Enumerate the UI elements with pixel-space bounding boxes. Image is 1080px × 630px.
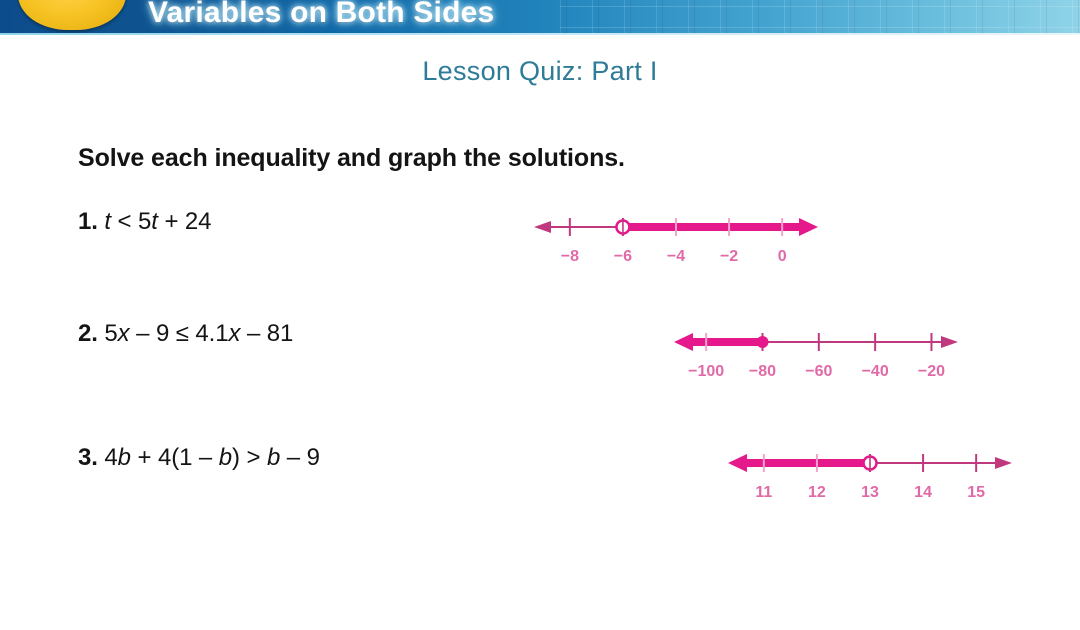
- math-text: – 81: [240, 320, 293, 347]
- math-variable: x: [118, 320, 130, 347]
- number-line-axis: [722, 446, 1018, 482]
- math-text: ) >: [232, 444, 267, 471]
- math-text: 5: [104, 320, 117, 347]
- math-variable: x: [228, 320, 240, 347]
- problem-number: 3.: [78, 444, 98, 471]
- math-variable: b: [118, 444, 131, 471]
- math-text: – 9 ≤ 4.1: [130, 320, 229, 347]
- math-variable: b: [267, 444, 280, 471]
- lesson-title: Variables on Both Sides: [148, 0, 494, 30]
- tick-label: 11: [755, 484, 772, 502]
- tick-label: −6: [614, 248, 632, 266]
- tick-label: −40: [862, 363, 889, 381]
- problem-expression: 5x – 9 ≤ 4.1x – 81: [104, 320, 293, 347]
- tick-label: −4: [667, 248, 685, 266]
- number-line-tick-labels: −100−80−60−40−20: [668, 363, 964, 385]
- math-variable: b: [219, 444, 232, 471]
- math-text: + 24: [158, 208, 212, 235]
- tick-label: 14: [914, 484, 932, 502]
- instruction-text: Solve each inequality and graph the solu…: [78, 144, 625, 173]
- problem-number: 2.: [78, 320, 98, 347]
- number-line-graph: −100−80−60−40−20: [668, 325, 964, 361]
- tick-label: 15: [967, 484, 985, 502]
- header-banner: 2-4 Variables on Both Sides: [0, 0, 1080, 34]
- tick-label: 0: [778, 248, 787, 266]
- problem-expression: t < 5t + 24: [104, 208, 211, 235]
- math-text: 4: [104, 444, 117, 471]
- math-variable: t: [104, 208, 111, 235]
- number-line-graph: −8−6−4−20: [528, 210, 824, 246]
- tick-label: −20: [918, 363, 945, 381]
- lesson-number-badge: 2-4: [18, 0, 126, 30]
- number-line-tick-labels: −8−6−4−20: [528, 248, 824, 270]
- math-text: < 5: [111, 208, 151, 235]
- tick-label: −80: [749, 363, 776, 381]
- problem-item: 2. 5x – 9 ≤ 4.1x – 81: [78, 320, 293, 348]
- math-text: + 4(1 –: [131, 444, 219, 471]
- quiz-subtitle: Lesson Quiz: Part I: [0, 56, 1080, 87]
- tick-label: −100: [688, 363, 724, 381]
- problem-item: 1. t < 5t + 24: [78, 208, 211, 236]
- number-line-tick-labels: 1112131415: [722, 484, 1018, 506]
- number-line-graph: 1112131415: [722, 446, 1018, 482]
- banner-underline: [0, 33, 1080, 35]
- problem-expression: 4b + 4(1 – b) > b – 9: [104, 444, 319, 471]
- problem-number: 1.: [78, 208, 98, 235]
- tick-label: −8: [561, 248, 579, 266]
- banner-square-pattern: [560, 0, 1080, 34]
- tick-label: −60: [805, 363, 832, 381]
- number-line-axis: [528, 210, 824, 246]
- tick-label: 12: [808, 484, 826, 502]
- math-text: – 9: [280, 444, 320, 471]
- tick-label: 13: [861, 484, 879, 502]
- tick-label: −2: [720, 248, 738, 266]
- number-line-axis: [668, 325, 964, 361]
- math-variable: t: [151, 208, 158, 235]
- problem-item: 3. 4b + 4(1 – b) > b – 9: [78, 444, 320, 472]
